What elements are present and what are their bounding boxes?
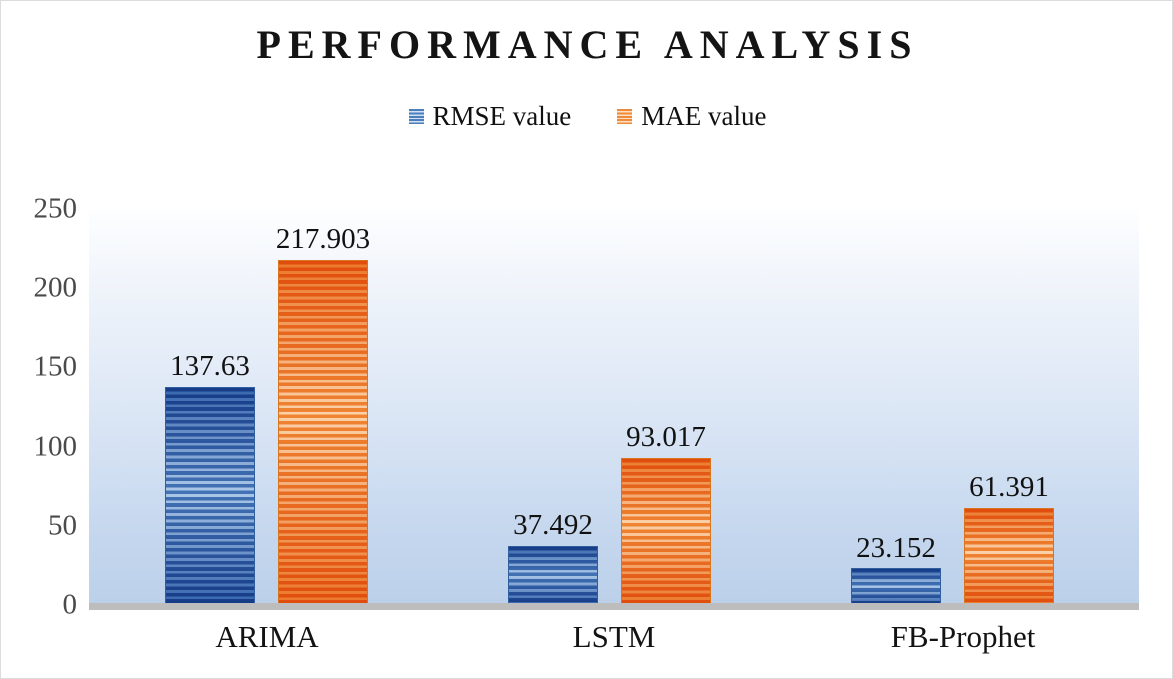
data-label-lstm-rmse: 37.492 bbox=[513, 509, 593, 542]
legend-item-rmse[interactable]: RMSE value bbox=[409, 101, 572, 132]
legend-item-mae[interactable]: MAE value bbox=[617, 101, 766, 132]
bar-fbprophet-rmse[interactable] bbox=[851, 568, 941, 605]
bar-lstm-mae[interactable] bbox=[621, 458, 711, 605]
y-axis-tick-150: 150 bbox=[7, 351, 77, 384]
y-axis-tick-200: 200 bbox=[7, 272, 77, 305]
chart-legend: RMSE value MAE value bbox=[1, 101, 1173, 132]
y-axis-tick-0: 0 bbox=[7, 589, 77, 622]
bar-arima-rmse[interactable] bbox=[165, 387, 255, 605]
x-axis-tick-lstm: LSTM bbox=[573, 619, 656, 655]
page-title: PERFORMANCE ANALYSIS bbox=[1, 21, 1173, 68]
x-axis-tick-fbprophet: FB-Prophet bbox=[891, 619, 1036, 655]
legend-item-label: MAE value bbox=[641, 101, 766, 132]
y-axis-tick-250: 250 bbox=[7, 193, 77, 226]
x-axis-tick-arima: ARIMA bbox=[215, 619, 318, 655]
y-axis-tick-50: 50 bbox=[7, 509, 77, 542]
data-label-fbprophet-mae: 61.391 bbox=[969, 471, 1049, 504]
bar-lstm-rmse[interactable] bbox=[508, 546, 598, 605]
x-axis-baseline bbox=[89, 603, 1139, 610]
bar-arima-mae[interactable] bbox=[278, 260, 368, 605]
data-label-arima-mae: 217.903 bbox=[276, 223, 370, 256]
bar-fbprophet-mae[interactable] bbox=[964, 508, 1054, 605]
data-label-fbprophet-rmse: 23.152 bbox=[856, 532, 936, 565]
chart-figure: PERFORMANCE ANALYSIS RMSE value MAE valu… bbox=[0, 0, 1173, 679]
data-label-lstm-mae: 93.017 bbox=[626, 421, 706, 454]
data-label-arima-rmse: 137.63 bbox=[170, 350, 250, 383]
y-axis-tick-100: 100 bbox=[7, 430, 77, 463]
mae-swatch-icon bbox=[617, 109, 632, 124]
legend-item-label: RMSE value bbox=[433, 101, 572, 132]
rmse-swatch-icon bbox=[409, 109, 424, 124]
plot-area: 137.63 217.903 37.492 93.017 23.152 61.3… bbox=[89, 209, 1139, 605]
